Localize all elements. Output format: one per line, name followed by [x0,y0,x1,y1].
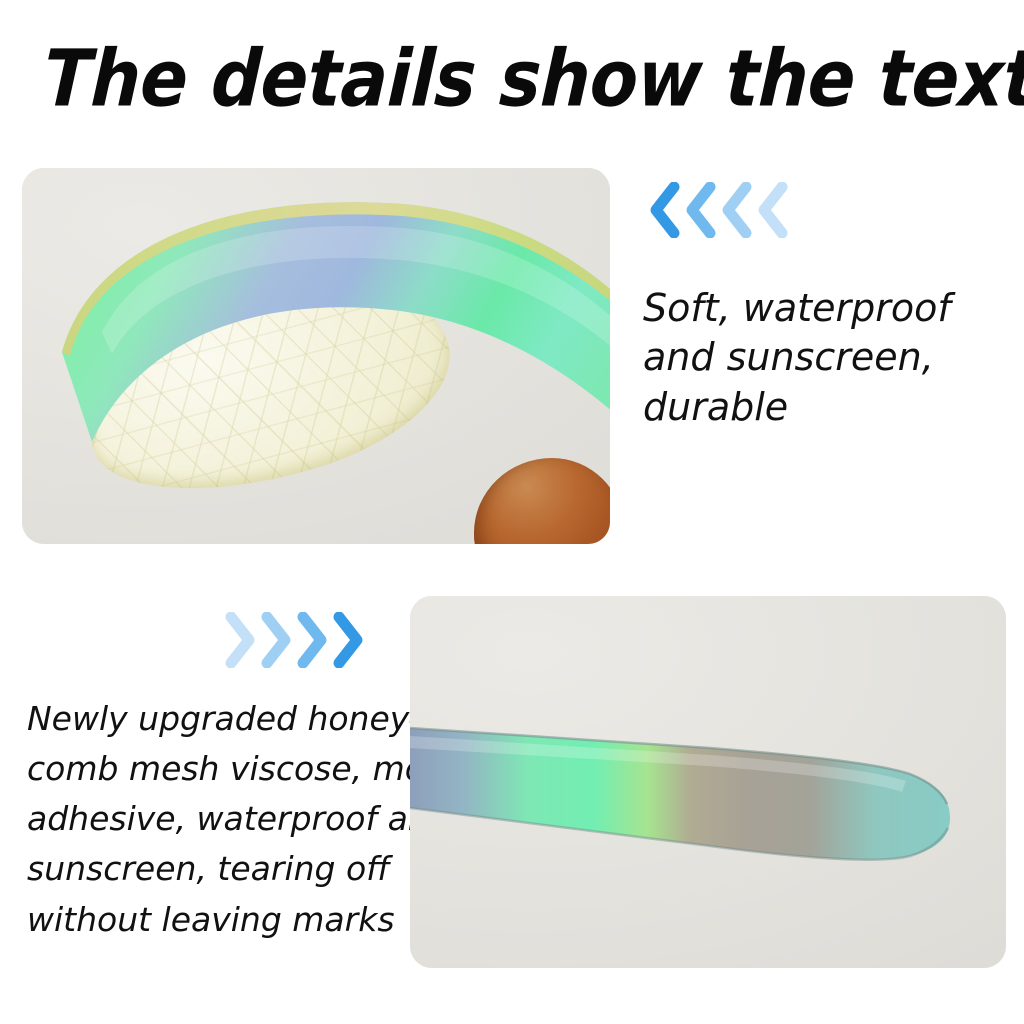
chevron-right-icon [219,612,259,668]
caption-line: adhesive, waterproof and [27,794,417,844]
chevron-left-icon [682,182,722,238]
caption-line: without leaving marks [27,895,417,945]
chevron-group-right-pointing [219,612,363,668]
caption-line: durable [643,383,1015,432]
flat-tape-photo-panel [410,596,1006,968]
looped-tape-photo-panel [22,168,610,544]
tape-loop-illustration [22,168,610,544]
chevron-left-icon [718,182,758,238]
infographic-page: The details show the texture [0,0,1024,1024]
caption-line: and sunscreen, [643,333,1015,382]
caption-soft-waterproof: Soft, waterproof and sunscreen, durable [643,284,1015,432]
chevron-right-icon [255,612,295,668]
page-title: The details show the texture [42,34,986,124]
chevron-left-icon [646,182,686,238]
chevron-right-icon [291,612,331,668]
caption-line: Soft, waterproof [643,284,1015,333]
caption-line: Newly upgraded honey- [27,694,417,744]
chevron-right-icon [327,612,367,668]
tape-strip-svg [410,596,1006,968]
chevron-left-icon [754,182,794,238]
tape-strip-illustration [410,596,1006,968]
caption-line: comb mesh viscose, more [27,744,417,794]
chevron-group-left-pointing [646,182,790,238]
caption-honeycomb-mesh: Newly upgraded honey- comb mesh viscose,… [27,694,417,945]
caption-line: sunscreen, tearing off [27,844,417,894]
